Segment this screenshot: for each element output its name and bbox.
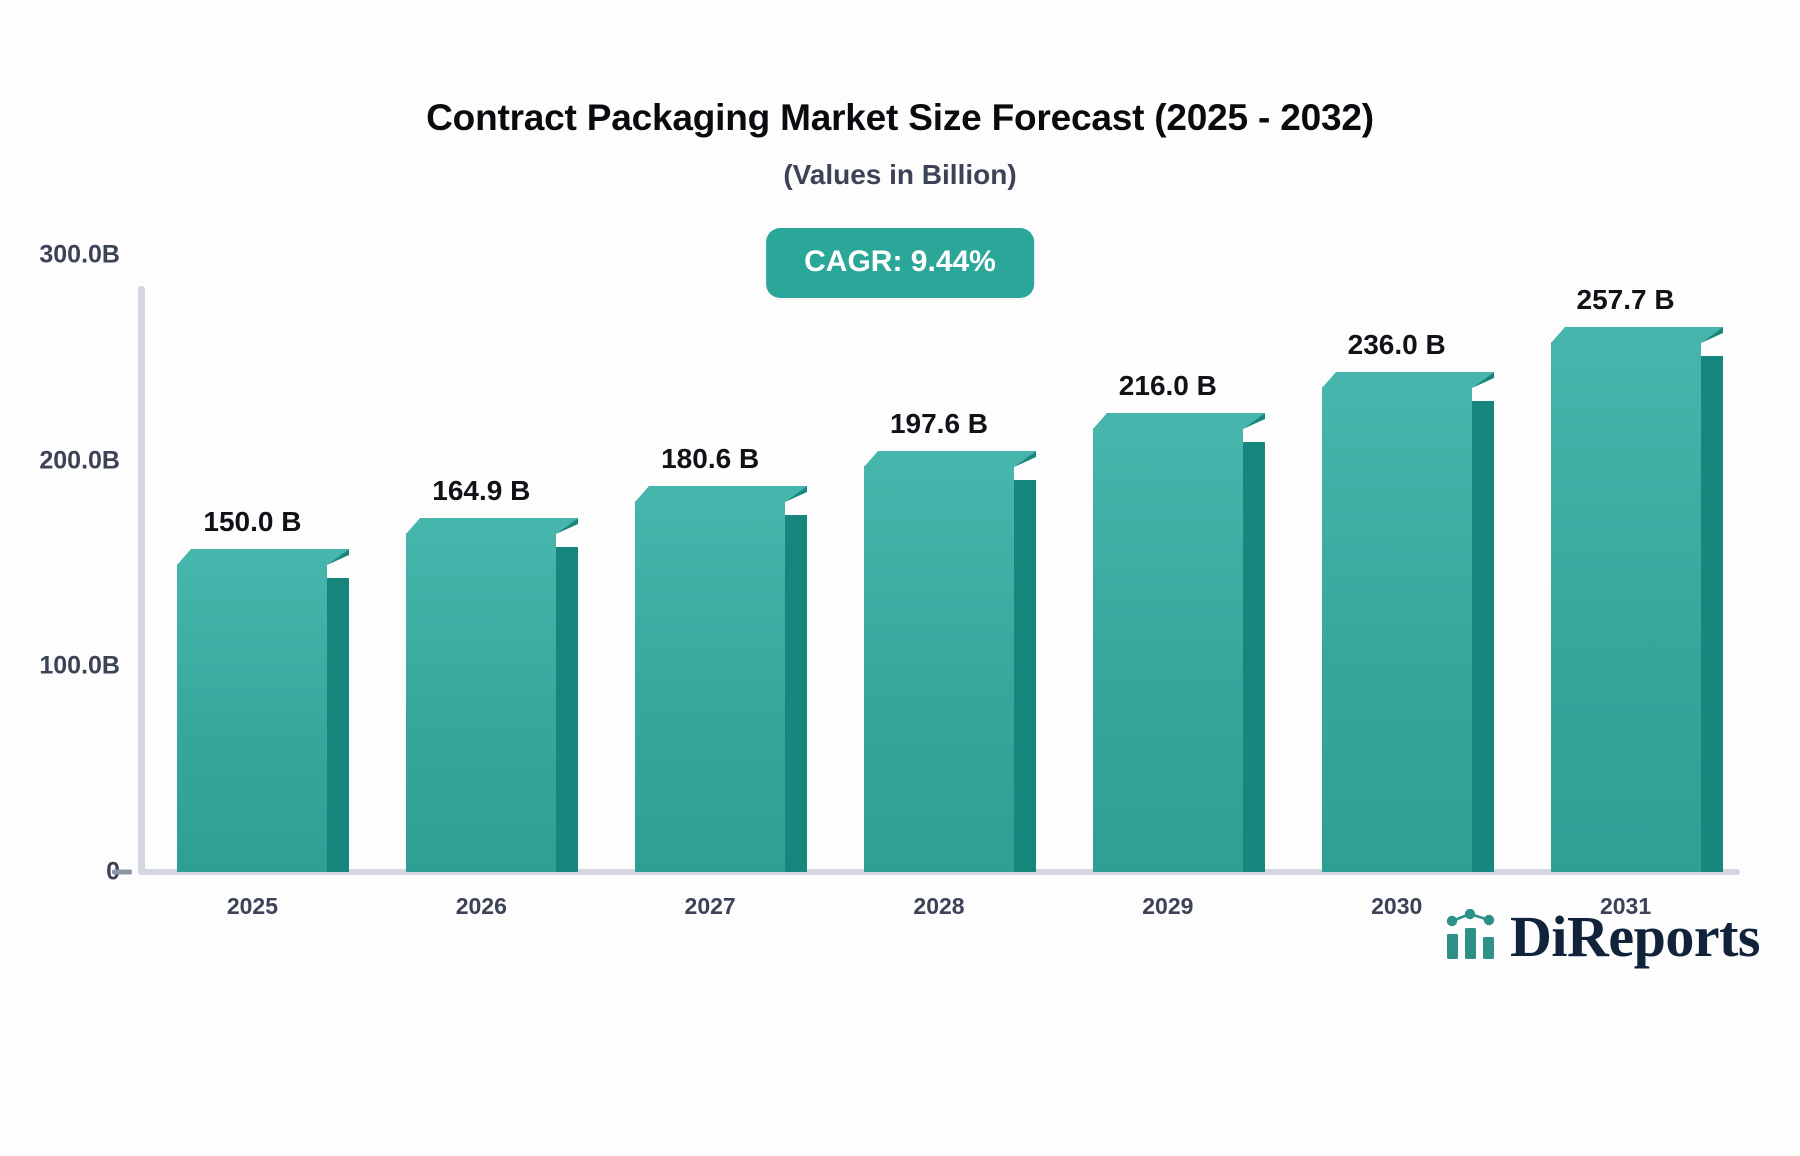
plot-area: 0100.0B200.0B300.0B 150.0 B164.9 B180.6 … bbox=[0, 0, 1800, 1156]
x-tick-label-2030: 2030 bbox=[1371, 893, 1422, 920]
bar-value-label-2025: 150.0 B bbox=[203, 506, 301, 538]
bar-top-face bbox=[635, 486, 807, 502]
brand-name: DiReports bbox=[1510, 908, 1760, 966]
bar-value-label-2029: 216.0 B bbox=[1119, 370, 1217, 402]
x-tick-label-2027: 2027 bbox=[685, 893, 736, 920]
bar-front-face bbox=[1551, 342, 1701, 872]
bar-value-label-2027: 180.6 B bbox=[661, 443, 759, 475]
bar-side-face bbox=[785, 515, 807, 872]
x-tick-label-2025: 2025 bbox=[227, 893, 278, 920]
bars-layer: 150.0 B164.9 B180.6 B197.6 B216.0 B236.0… bbox=[0, 0, 1800, 1156]
bar-front-face bbox=[635, 501, 785, 872]
bar-top-face bbox=[1551, 327, 1723, 343]
bar-top-face bbox=[177, 549, 349, 565]
bar-front-face bbox=[177, 564, 327, 873]
bar-top-face bbox=[864, 451, 1036, 467]
bar-front-face bbox=[1093, 428, 1243, 872]
bar-chart-icon bbox=[1444, 909, 1500, 966]
bar-top-face bbox=[1093, 413, 1265, 429]
direports-logo: DiReports bbox=[1444, 908, 1760, 966]
bar-front-face bbox=[406, 533, 556, 872]
bar-top-face bbox=[406, 518, 578, 534]
bar-value-label-2030: 236.0 B bbox=[1348, 329, 1446, 361]
bar-side-face bbox=[556, 547, 578, 872]
bar-front-face bbox=[1322, 387, 1472, 872]
bar-top-face bbox=[1322, 372, 1494, 388]
bar-value-label-2031: 257.7 B bbox=[1577, 284, 1675, 316]
x-tick-label-2029: 2029 bbox=[1142, 893, 1193, 920]
bar-front-face bbox=[864, 466, 1014, 872]
x-tick-label-2026: 2026 bbox=[456, 893, 507, 920]
bar-side-face bbox=[1701, 356, 1723, 872]
bar-side-face bbox=[1243, 442, 1265, 872]
bar-side-face bbox=[1014, 480, 1036, 872]
bar-value-label-2028: 197.6 B bbox=[890, 408, 988, 440]
bar-side-face bbox=[1472, 401, 1494, 872]
bar-value-label-2026: 164.9 B bbox=[432, 475, 530, 507]
x-tick-label-2028: 2028 bbox=[913, 893, 964, 920]
bar-side-face bbox=[327, 578, 349, 873]
chart-root: Contract Packaging Market Size Forecast … bbox=[0, 0, 1800, 1156]
